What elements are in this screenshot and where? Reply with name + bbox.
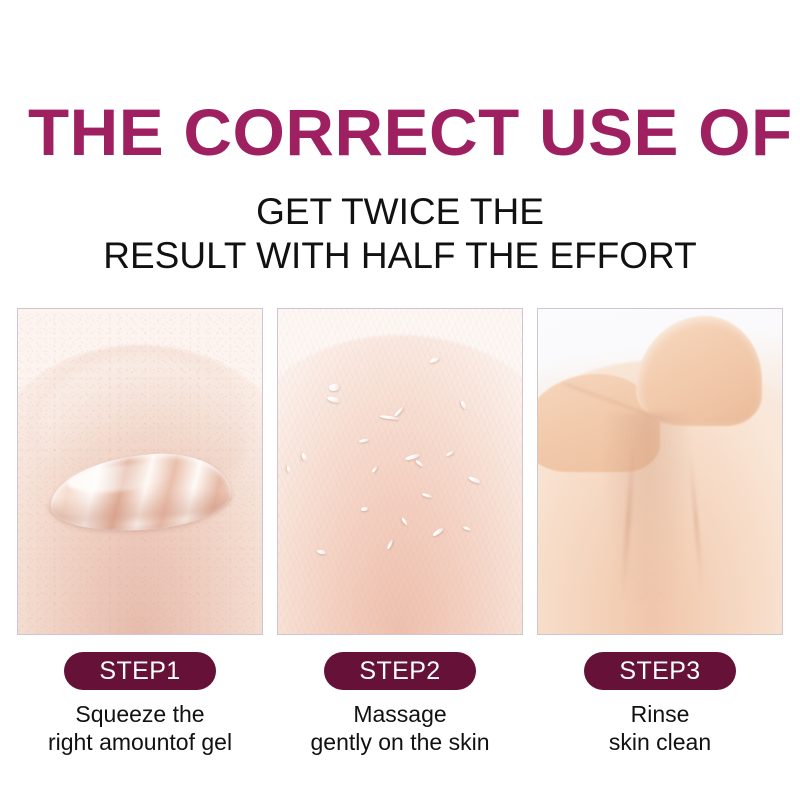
step-caption-3-line-2: skin clean [609,728,711,756]
subtitle-line-2: RESULT WITH HALF THE EFFORT [0,234,800,278]
step-label-row: STEP1 Squeeze the right amountof gel STE… [17,652,783,772]
step-caption-2-line-1: Massage [310,700,489,728]
step-photo-row [17,308,783,635]
step-photo-2 [277,308,523,635]
product-usage-infographic: THE CORRECT USE OF GET TWICE THE RESULT … [0,0,800,800]
step-caption-1-line-1: Squeeze the [48,700,232,728]
step-caption-3: Rinse skin clean [609,700,711,756]
step-caption-1-line-2: right amountof gel [48,728,232,756]
step-2: STEP2 Massage gently on the skin [277,652,523,772]
step-photo-3 [537,308,783,635]
step-3: STEP3 Rinse skin clean [537,652,783,772]
step-badge-3: STEP3 [584,652,736,690]
subtitle: GET TWICE THE RESULT WITH HALF THE EFFOR… [0,190,800,278]
exfoliating-flakes-photo [278,309,522,634]
finger-shadow [606,413,689,602]
step-photo-1 [17,308,263,635]
step-caption-2-line-2: gently on the skin [310,728,489,756]
subtitle-line-1: GET TWICE THE [0,190,800,234]
step-caption-1: Squeeze the right amountof gel [48,700,232,756]
step-1: STEP1 Squeeze the right amountof gel [17,652,263,772]
step-badge-1: STEP1 [64,652,216,690]
page-title: THE CORRECT USE OF [28,96,791,168]
skin-texture [278,309,522,634]
step-caption-3-line-1: Rinse [609,700,711,728]
clean-hand-photo [538,309,782,634]
gel-on-skin-photo [18,309,262,634]
step-caption-2: Massage gently on the skin [310,700,489,756]
step-badge-2: STEP2 [324,652,476,690]
